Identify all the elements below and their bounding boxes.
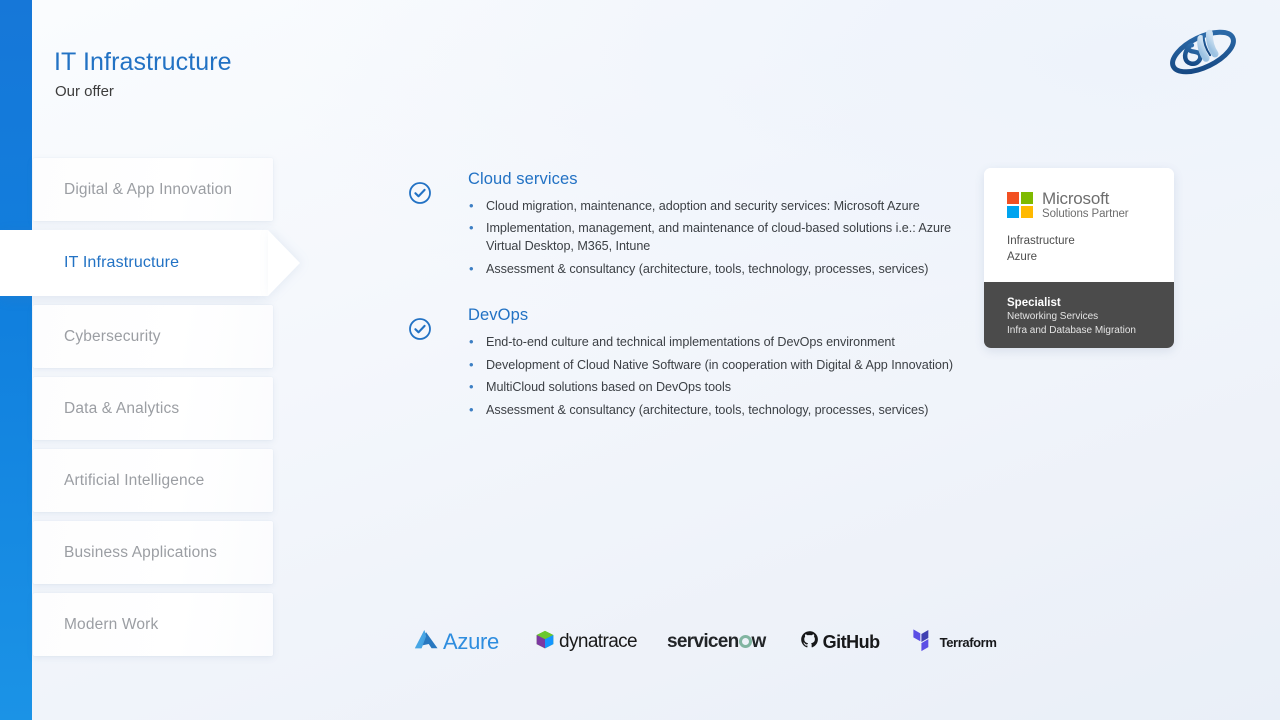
sidebar-item-label: Cybersecurity xyxy=(33,328,161,346)
list-item: Development of Cloud Native Software (in… xyxy=(468,357,956,375)
microsoft-solutions-partner-badge: Microsoft Solutions Partner Infrastructu… xyxy=(984,168,1174,348)
section-title: DevOps xyxy=(468,306,960,326)
dynatrace-logo-icon xyxy=(535,630,555,655)
dynatrace-wordmark: dynatrace xyxy=(559,631,637,653)
sidebar-item-label: Data & Analytics xyxy=(33,400,179,418)
section-title: Cloud services xyxy=(468,170,960,190)
list-item: Assessment & consultancy (architecture, … xyxy=(468,261,956,279)
sidebar-item-data-analytics[interactable]: Data & Analytics xyxy=(33,377,273,440)
ms-logo-row: Microsoft Solutions Partner xyxy=(1007,190,1174,221)
ms-specialist-line: Infra and Database Migration xyxy=(1007,324,1174,338)
check-circle-icon xyxy=(408,317,432,341)
ms-cloud-label: Azure xyxy=(1007,249,1174,265)
list-item: End-to-end culture and technical impleme… xyxy=(468,334,956,352)
servicenow-ring-icon xyxy=(739,635,752,648)
servicenow-wordmark: servicenw xyxy=(667,631,766,653)
sidebar-item-modern-work[interactable]: Modern Work xyxy=(33,593,273,656)
section-bullet-list: Cloud migration, maintenance, adoption a… xyxy=(468,198,960,278)
check-circle-icon xyxy=(408,181,432,205)
ms-wordmark: Microsoft Solutions Partner xyxy=(1042,190,1129,221)
partner-logo-servicenow: servicenw xyxy=(667,626,766,658)
sidebar-item-label: Business Applications xyxy=(33,544,217,562)
partner-logo-strip: Azure dynatrace servicenw GitH xyxy=(412,626,996,658)
sidebar-nav[interactable]: Digital & App Innovation IT Infrastructu… xyxy=(0,158,300,665)
ms-program-name: Solutions Partner xyxy=(1042,209,1129,221)
partner-logo-azure: Azure xyxy=(412,626,499,658)
github-wordmark: GitHub xyxy=(823,632,880,653)
sidebar-item-digital-app-innovation[interactable]: Digital & App Innovation xyxy=(33,158,273,221)
ms-area-block: Infrastructure Azure xyxy=(1007,233,1174,265)
ms-area-label: Infrastructure xyxy=(1007,233,1174,249)
azure-wordmark: Azure xyxy=(443,629,499,655)
partner-logo-dynatrace: dynatrace xyxy=(535,626,637,658)
page-title: IT Infrastructure xyxy=(54,48,574,77)
microsoft-logo-icon xyxy=(1007,192,1033,218)
list-item: Assessment & consultancy (architecture, … xyxy=(468,402,956,420)
ms-specialist-title: Specialist xyxy=(1007,296,1174,310)
ms-badge-specialist: Specialist Networking Services Infra and… xyxy=(984,282,1174,348)
offer-content: Cloud services Cloud migration, maintena… xyxy=(400,160,960,447)
sidebar-item-label: Modern Work xyxy=(33,616,158,634)
slide-canvas: IT Infrastructure Our offer xyxy=(0,0,1280,720)
ms-brand-name: Microsoft xyxy=(1042,190,1129,207)
sidebar-item-artificial-intelligence[interactable]: Artificial Intelligence xyxy=(33,449,273,512)
list-item: Cloud migration, maintenance, adoption a… xyxy=(468,198,956,216)
page-subtitle: Our offer xyxy=(55,83,574,101)
ms-specialist-line: Networking Services xyxy=(1007,310,1174,324)
section-bullet-list: End-to-end culture and technical impleme… xyxy=(468,334,960,419)
sidebar-item-business-applications[interactable]: Business Applications xyxy=(33,521,273,584)
section-cloud-services: Cloud services Cloud migration, maintena… xyxy=(400,170,960,278)
ms-badge-top: Microsoft Solutions Partner Infrastructu… xyxy=(984,168,1174,282)
slide-header: IT Infrastructure Our offer xyxy=(54,48,574,101)
sidebar-item-cybersecurity[interactable]: Cybersecurity xyxy=(33,305,273,368)
partner-logo-github: GitHub xyxy=(800,626,880,658)
section-devops: DevOps End-to-end culture and technical … xyxy=(400,306,960,419)
list-item: Implementation, management, and maintena… xyxy=(468,220,956,255)
sidebar-item-label: IT Infrastructure xyxy=(0,254,179,272)
sidebar-item-label: Digital & App Innovation xyxy=(33,181,232,199)
sidebar-item-it-infrastructure[interactable]: IT Infrastructure xyxy=(0,230,268,296)
list-item: MultiCloud solutions based on DevOps too… xyxy=(468,379,956,397)
terraform-logo-icon xyxy=(912,627,936,658)
terraform-wordmark: Terraform xyxy=(940,635,997,650)
sidebar-item-label: Artificial Intelligence xyxy=(33,472,204,490)
sii-logo-icon xyxy=(1167,26,1239,78)
partner-logo-terraform: Terraform xyxy=(912,626,997,658)
azure-logo-icon xyxy=(412,628,440,657)
github-logo-icon xyxy=(800,630,819,654)
